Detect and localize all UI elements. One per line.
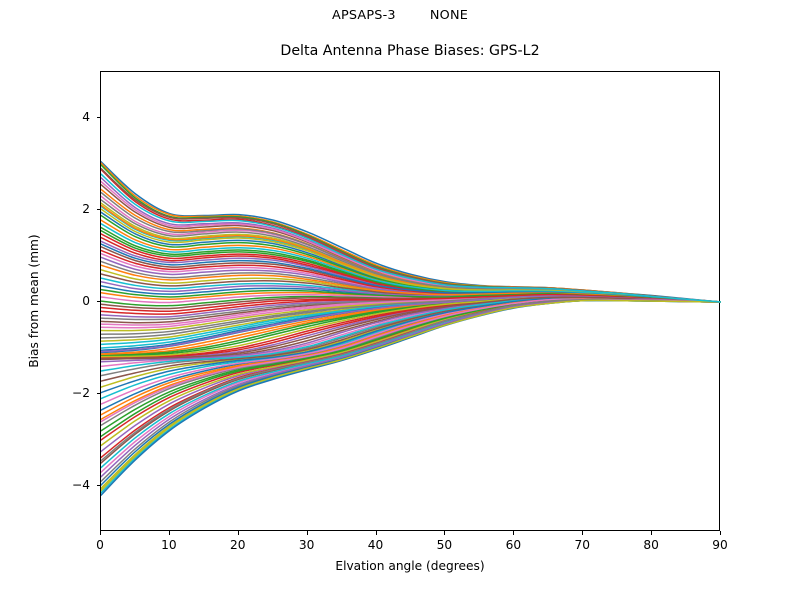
y-tick-mark (97, 393, 101, 394)
x-tick-label: 90 (690, 537, 750, 553)
plot-area (100, 71, 720, 531)
x-tick-label: 60 (483, 537, 543, 553)
y-axis-label: Bias from mean (mm) (26, 71, 42, 531)
x-tick-mark (307, 531, 308, 535)
y-tick-mark (97, 301, 101, 302)
x-tick-mark (720, 531, 721, 535)
y-tick-label: −2 (46, 385, 90, 401)
y-tick-mark (97, 117, 101, 118)
x-tick-mark (444, 531, 445, 535)
x-tick-label: 70 (552, 537, 612, 553)
x-tick-mark (513, 531, 514, 535)
y-tick-label: −4 (46, 477, 90, 493)
x-tick-label: 40 (346, 537, 406, 553)
x-tick-mark (100, 531, 101, 535)
figure-canvas: APSAPS-3 NONE Delta Antenna Phase Biases… (0, 0, 800, 600)
y-tick-label: 0 (46, 293, 90, 309)
x-tick-label: 10 (139, 537, 199, 553)
figure-suptitle: APSAPS-3 NONE (0, 8, 800, 24)
x-tick-mark (238, 531, 239, 535)
y-tick-label: 4 (46, 109, 90, 125)
x-tick-label: 30 (277, 537, 337, 553)
y-tick-mark (97, 209, 101, 210)
x-axis-label: Elvation angle (degrees) (100, 558, 720, 574)
x-tick-label: 20 (208, 537, 268, 553)
chart-title: Delta Antenna Phase Biases: GPS-L2 (100, 41, 720, 61)
x-tick-label: 80 (621, 537, 681, 553)
x-tick-mark (651, 531, 652, 535)
y-tick-label: 2 (46, 201, 90, 217)
x-tick-label: 0 (70, 537, 130, 553)
x-tick-mark (376, 531, 377, 535)
line-series-group (101, 72, 721, 532)
y-tick-mark (97, 485, 101, 486)
x-tick-mark (169, 531, 170, 535)
x-tick-mark (582, 531, 583, 535)
x-tick-label: 50 (414, 537, 474, 553)
